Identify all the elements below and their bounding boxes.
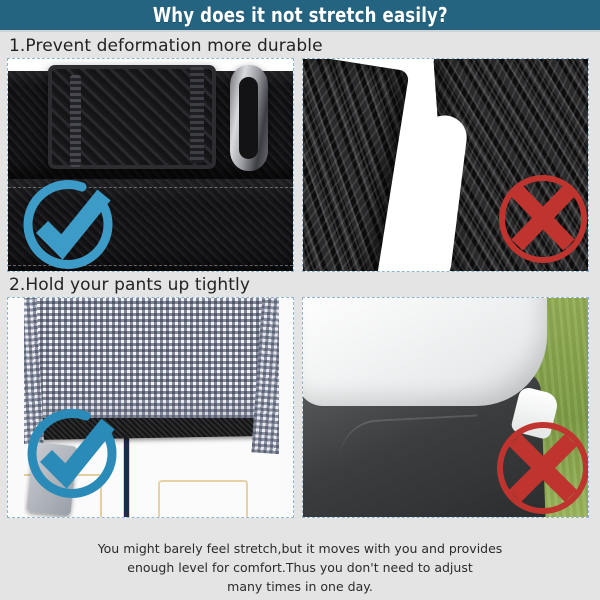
section-2-panels xyxy=(0,297,600,518)
header-banner: Why does it not stretch easily? xyxy=(0,0,600,32)
panel-sagging-belt xyxy=(302,297,589,518)
caption-line-3: many times in one day. xyxy=(0,577,600,596)
photo-braided-belt xyxy=(303,59,588,271)
page-title: Why does it not stretch easily? xyxy=(152,3,447,27)
infographic-page: Why does it not stretch easily? 1.Preven… xyxy=(0,0,600,600)
section-1-panels xyxy=(0,58,600,272)
photo-carbon-belt xyxy=(8,59,293,271)
caption-line-1: You might barely feel stretch,but it mov… xyxy=(0,539,600,558)
footer-caption: You might barely feel stretch,but it mov… xyxy=(0,539,600,596)
section-1-title: 1.Prevent deformation more durable xyxy=(0,32,600,58)
photo-sagging-belt xyxy=(303,298,588,517)
caption-line-2: enough level for comfort.Thus you don't … xyxy=(0,558,600,577)
panel-jeans-belt xyxy=(7,297,294,518)
photo-jeans-belt xyxy=(8,298,293,517)
panel-braided-belt xyxy=(302,58,589,272)
section-2-title: 2.Hold your pants up tightly xyxy=(0,272,600,297)
panel-carbon-belt xyxy=(7,58,294,272)
